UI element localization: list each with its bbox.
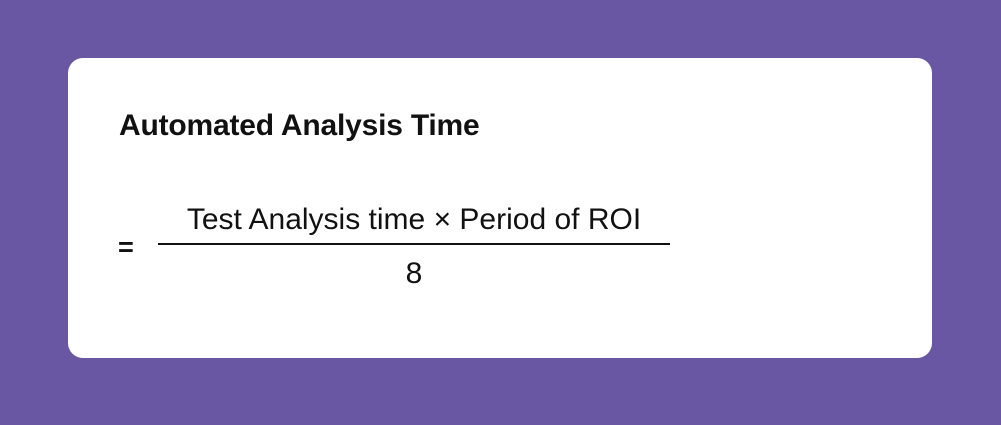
fraction: Test Analysis time × Period of ROI 8: [158, 200, 670, 294]
page-title: Automated Analysis Time: [119, 106, 480, 146]
formula-expression: = Test Analysis time × Period of ROI 8: [118, 200, 670, 294]
fraction-denominator: 8: [406, 245, 423, 294]
formula-card: Automated Analysis Time = Test Analysis …: [68, 58, 932, 358]
fraction-numerator: Test Analysis time × Period of ROI: [183, 200, 645, 243]
slide-canvas: Automated Analysis Time = Test Analysis …: [0, 0, 1001, 425]
equals-sign: =: [118, 234, 140, 261]
